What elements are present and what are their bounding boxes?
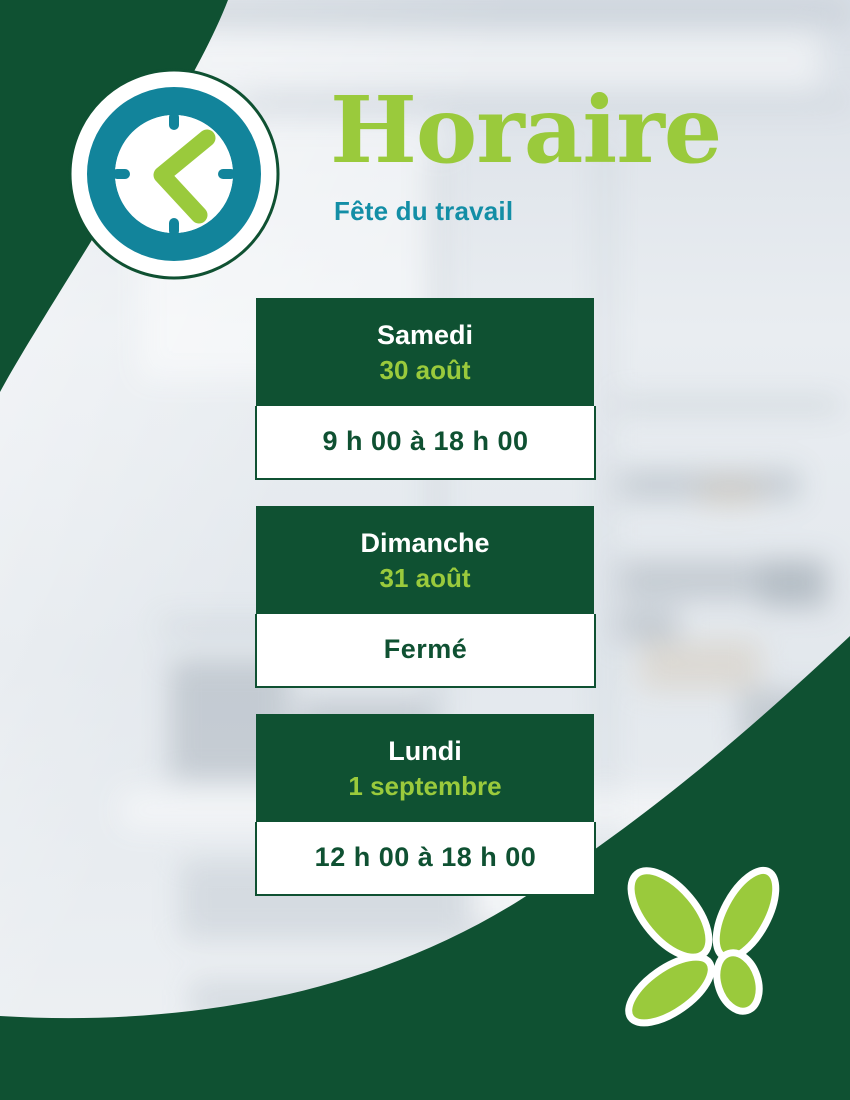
schedule-list: Samedi 30 août 9 h 00 à 18 h 00 Dimanche…	[256, 298, 594, 922]
schedule-card-header: Dimanche 31 août	[256, 506, 594, 614]
schedule-date-label: 1 septembre	[266, 771, 584, 802]
schedule-hours-label: Fermé	[265, 634, 586, 665]
schedule-hours-label: 9 h 00 à 18 h 00	[265, 426, 586, 457]
page-subtitle: Fête du travail	[334, 196, 790, 227]
clock-icon	[68, 68, 280, 280]
poster-header: Horaire Fête du travail	[330, 84, 790, 227]
schedule-poster: Horaire Fête du travail Samedi 30 août 9…	[0, 0, 850, 1100]
schedule-card: Samedi 30 août 9 h 00 à 18 h 00	[256, 298, 594, 480]
schedule-day-label: Lundi	[266, 736, 584, 768]
butterfly-icon	[618, 862, 798, 1042]
schedule-card: Lundi 1 septembre 12 h 00 à 18 h 00	[256, 714, 594, 896]
page-title: Horaire	[330, 84, 790, 176]
schedule-card-body: Fermé	[255, 614, 596, 688]
schedule-day-label: Dimanche	[266, 528, 584, 560]
schedule-card-body: 12 h 00 à 18 h 00	[255, 822, 596, 896]
schedule-card-header: Lundi 1 septembre	[256, 714, 594, 822]
schedule-date-label: 31 août	[266, 563, 584, 594]
schedule-card: Dimanche 31 août Fermé	[256, 506, 594, 688]
schedule-card-body: 9 h 00 à 18 h 00	[255, 406, 596, 480]
schedule-day-label: Samedi	[266, 320, 584, 352]
schedule-hours-label: 12 h 00 à 18 h 00	[265, 842, 586, 873]
schedule-date-label: 30 août	[266, 355, 584, 386]
schedule-card-header: Samedi 30 août	[256, 298, 594, 406]
